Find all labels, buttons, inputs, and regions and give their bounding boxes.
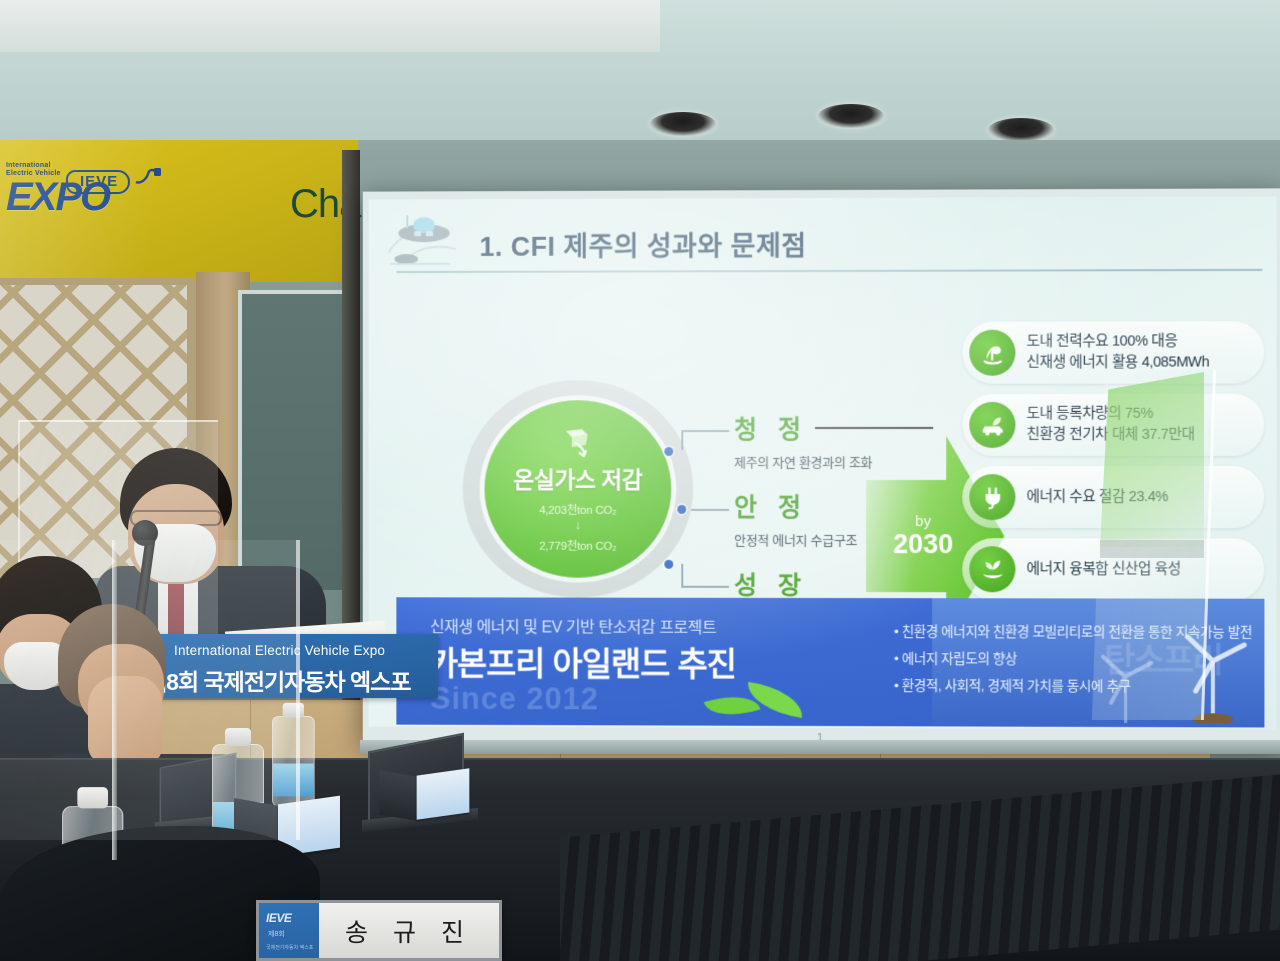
achievement-text: 에너지 융복합 신산업 육성 xyxy=(1027,559,1181,580)
title-divider xyxy=(396,269,1262,273)
bottle-cap xyxy=(283,703,304,718)
nameplate: IEVE 제8회 국제전기자동차 엑스포 송 규 진 xyxy=(256,900,502,961)
cfi-blue-band: 신재생 에너지 및 EV 기반 탄소저감 프로젝트 카본프리 아일랜드 추진 S… xyxy=(396,597,1264,727)
pillar-head: 성 장 xyxy=(734,566,872,602)
pillar-underline xyxy=(815,427,933,429)
achievement-row: 에너지 수요 절감 23.4% xyxy=(962,466,1264,528)
achievement-row: 도내 전력수요 100% 대응 신재생 에너지 활용 4,085MWh xyxy=(962,321,1264,384)
sprout-hand-icon xyxy=(969,330,1015,376)
band-since: Since 2012 xyxy=(430,681,599,717)
table-tent-card xyxy=(417,772,470,816)
pillar-head-text: 성 장 xyxy=(734,566,808,602)
achievement-line1: 도내 등록차량의 75% xyxy=(1027,404,1195,425)
projection-screen: 1. CFI 제주의 성과와 문제점 온실가스 저감 4,203천ton CO₂… xyxy=(363,188,1280,747)
slide-title: 1. CFI 제주의 성과와 문제점 xyxy=(480,224,807,264)
nameplate-sub: 제8회 xyxy=(268,929,285,939)
leaf-icon xyxy=(744,682,805,718)
ghg-value-from: 4,203천ton CO₂ xyxy=(539,501,616,517)
ghg-circle: 온실가스 저감 4,203천ton CO₂ ↓ 2,779천ton CO₂ xyxy=(485,400,672,578)
bottle-cap xyxy=(225,728,251,746)
presentation-slide: 1. CFI 제주의 성과와 문제점 온실가스 저감 4,203천ton CO₂… xyxy=(369,196,1277,729)
ieve-badge: IEVE xyxy=(66,170,130,194)
nameplate-name: 송 규 진 xyxy=(345,913,473,949)
achievement-line1: 에너지 수요 절감 23.4% xyxy=(1027,487,1169,508)
connector-dot xyxy=(664,560,673,569)
ceiling-downlight xyxy=(988,118,1054,142)
ceiling-downlight xyxy=(650,112,716,136)
achievement-line1: 도내 전력수요 100% 대응 xyxy=(1027,332,1210,353)
screen-bottom-rail xyxy=(360,740,1280,754)
attendee-hand xyxy=(88,676,162,764)
ghg-value-to: 2,779천ton CO₂ xyxy=(539,537,616,553)
arrow-year-label: 2030 xyxy=(893,530,953,558)
achievement-line2: 친환경 전기차 대체 37.7만대 xyxy=(1027,425,1195,446)
band-kicker: 신재생 에너지 및 EV 기반 탄소저감 프로젝트 xyxy=(430,613,716,638)
nameplate-logo-panel: IEVE 제8회 국제전기자동차 엑스포 xyxy=(259,903,319,958)
expo-wordmark: EXPO xyxy=(6,179,156,215)
pillar-sub: 안정적 에너지 수급구조 xyxy=(734,530,857,549)
ghg-ring-outer: 온실가스 저감 4,203천ton CO₂ ↓ 2,779천ton CO₂ xyxy=(463,380,694,598)
expo-intl-line1: International xyxy=(6,162,156,170)
bottle-label xyxy=(273,764,314,797)
ceiling-downlight xyxy=(818,104,884,128)
achievement-row: 에너지 융복합 신산업 육성 xyxy=(962,538,1264,601)
recycle-reduce-icon xyxy=(558,425,598,459)
connector-dot xyxy=(664,447,673,456)
leader-line xyxy=(681,430,682,450)
pillar-head: 청 정 xyxy=(734,410,933,446)
pillar-head-text: 안 정 xyxy=(734,488,808,524)
pillar-head: 안 정 xyxy=(734,488,857,524)
connector-dot xyxy=(677,505,686,514)
achievement-text: 도내 등록차량의 75% 친환경 전기차 대체 37.7만대 xyxy=(1027,404,1195,445)
achievement-line2: 신재생 에너지 활용 4,085MWh xyxy=(1027,352,1210,373)
leader-line xyxy=(681,430,729,432)
jeju-island-illustration-icon xyxy=(385,209,484,271)
plug-icon xyxy=(969,474,1015,520)
achievement-line1: 에너지 융복합 신산업 육성 xyxy=(1027,559,1181,580)
wind-turbine-icon xyxy=(1093,649,1160,727)
band-headline: 카본프리 아일랜드 추진 xyxy=(428,637,736,686)
plug-icon xyxy=(134,166,162,188)
tent-card-back xyxy=(379,770,418,821)
nameplate-name-panel: 송 규 진 xyxy=(319,903,499,958)
ghg-label: 온실가스 저감 xyxy=(513,461,642,495)
pillar-anjeong: 안 정 안정적 에너지 수급구조 xyxy=(734,488,857,549)
arrow-by-label: by xyxy=(915,513,931,530)
achievement-text: 도내 전력수요 100% 대응 신재생 에너지 활용 4,085MWh xyxy=(1027,332,1210,374)
ghg-arrow: ↓ xyxy=(575,519,581,529)
tent-card-front xyxy=(417,768,470,820)
ieve-logo: IEVE xyxy=(266,911,291,925)
expo-logo: International Electric Vehicle EXPO IEVE xyxy=(6,162,156,215)
ceiling-soffit xyxy=(0,0,660,52)
expo-intl-line2: Electric Vehicle xyxy=(6,170,156,178)
nameplate-sub2: 국제전기자동차 엑스포 xyxy=(266,945,313,952)
pillar-cheongjeong: 청 정 제주의 자연 환경과의 조화 xyxy=(734,410,933,471)
leader-line xyxy=(691,509,729,511)
pillar-head-text: 청 정 xyxy=(734,410,808,446)
leader-line xyxy=(681,586,729,588)
achievement-text: 에너지 수요 절감 23.4% xyxy=(1027,487,1169,508)
acrylic-divider-post xyxy=(112,540,117,860)
pillar-sub: 제주의 자연 환경과의 조화 xyxy=(734,452,933,471)
bottle-cap xyxy=(77,787,108,808)
plant-hands-icon xyxy=(969,546,1015,592)
achievement-row: 도내 등록차량의 75% 친환경 전기차 대체 37.7만대 xyxy=(962,394,1264,456)
wind-turbine-icon xyxy=(1174,627,1253,724)
leader-line xyxy=(681,564,682,586)
conference-room-photo: International Electric Vehicle EXPO IEVE… xyxy=(0,0,1280,961)
eco-car-icon xyxy=(969,402,1015,448)
